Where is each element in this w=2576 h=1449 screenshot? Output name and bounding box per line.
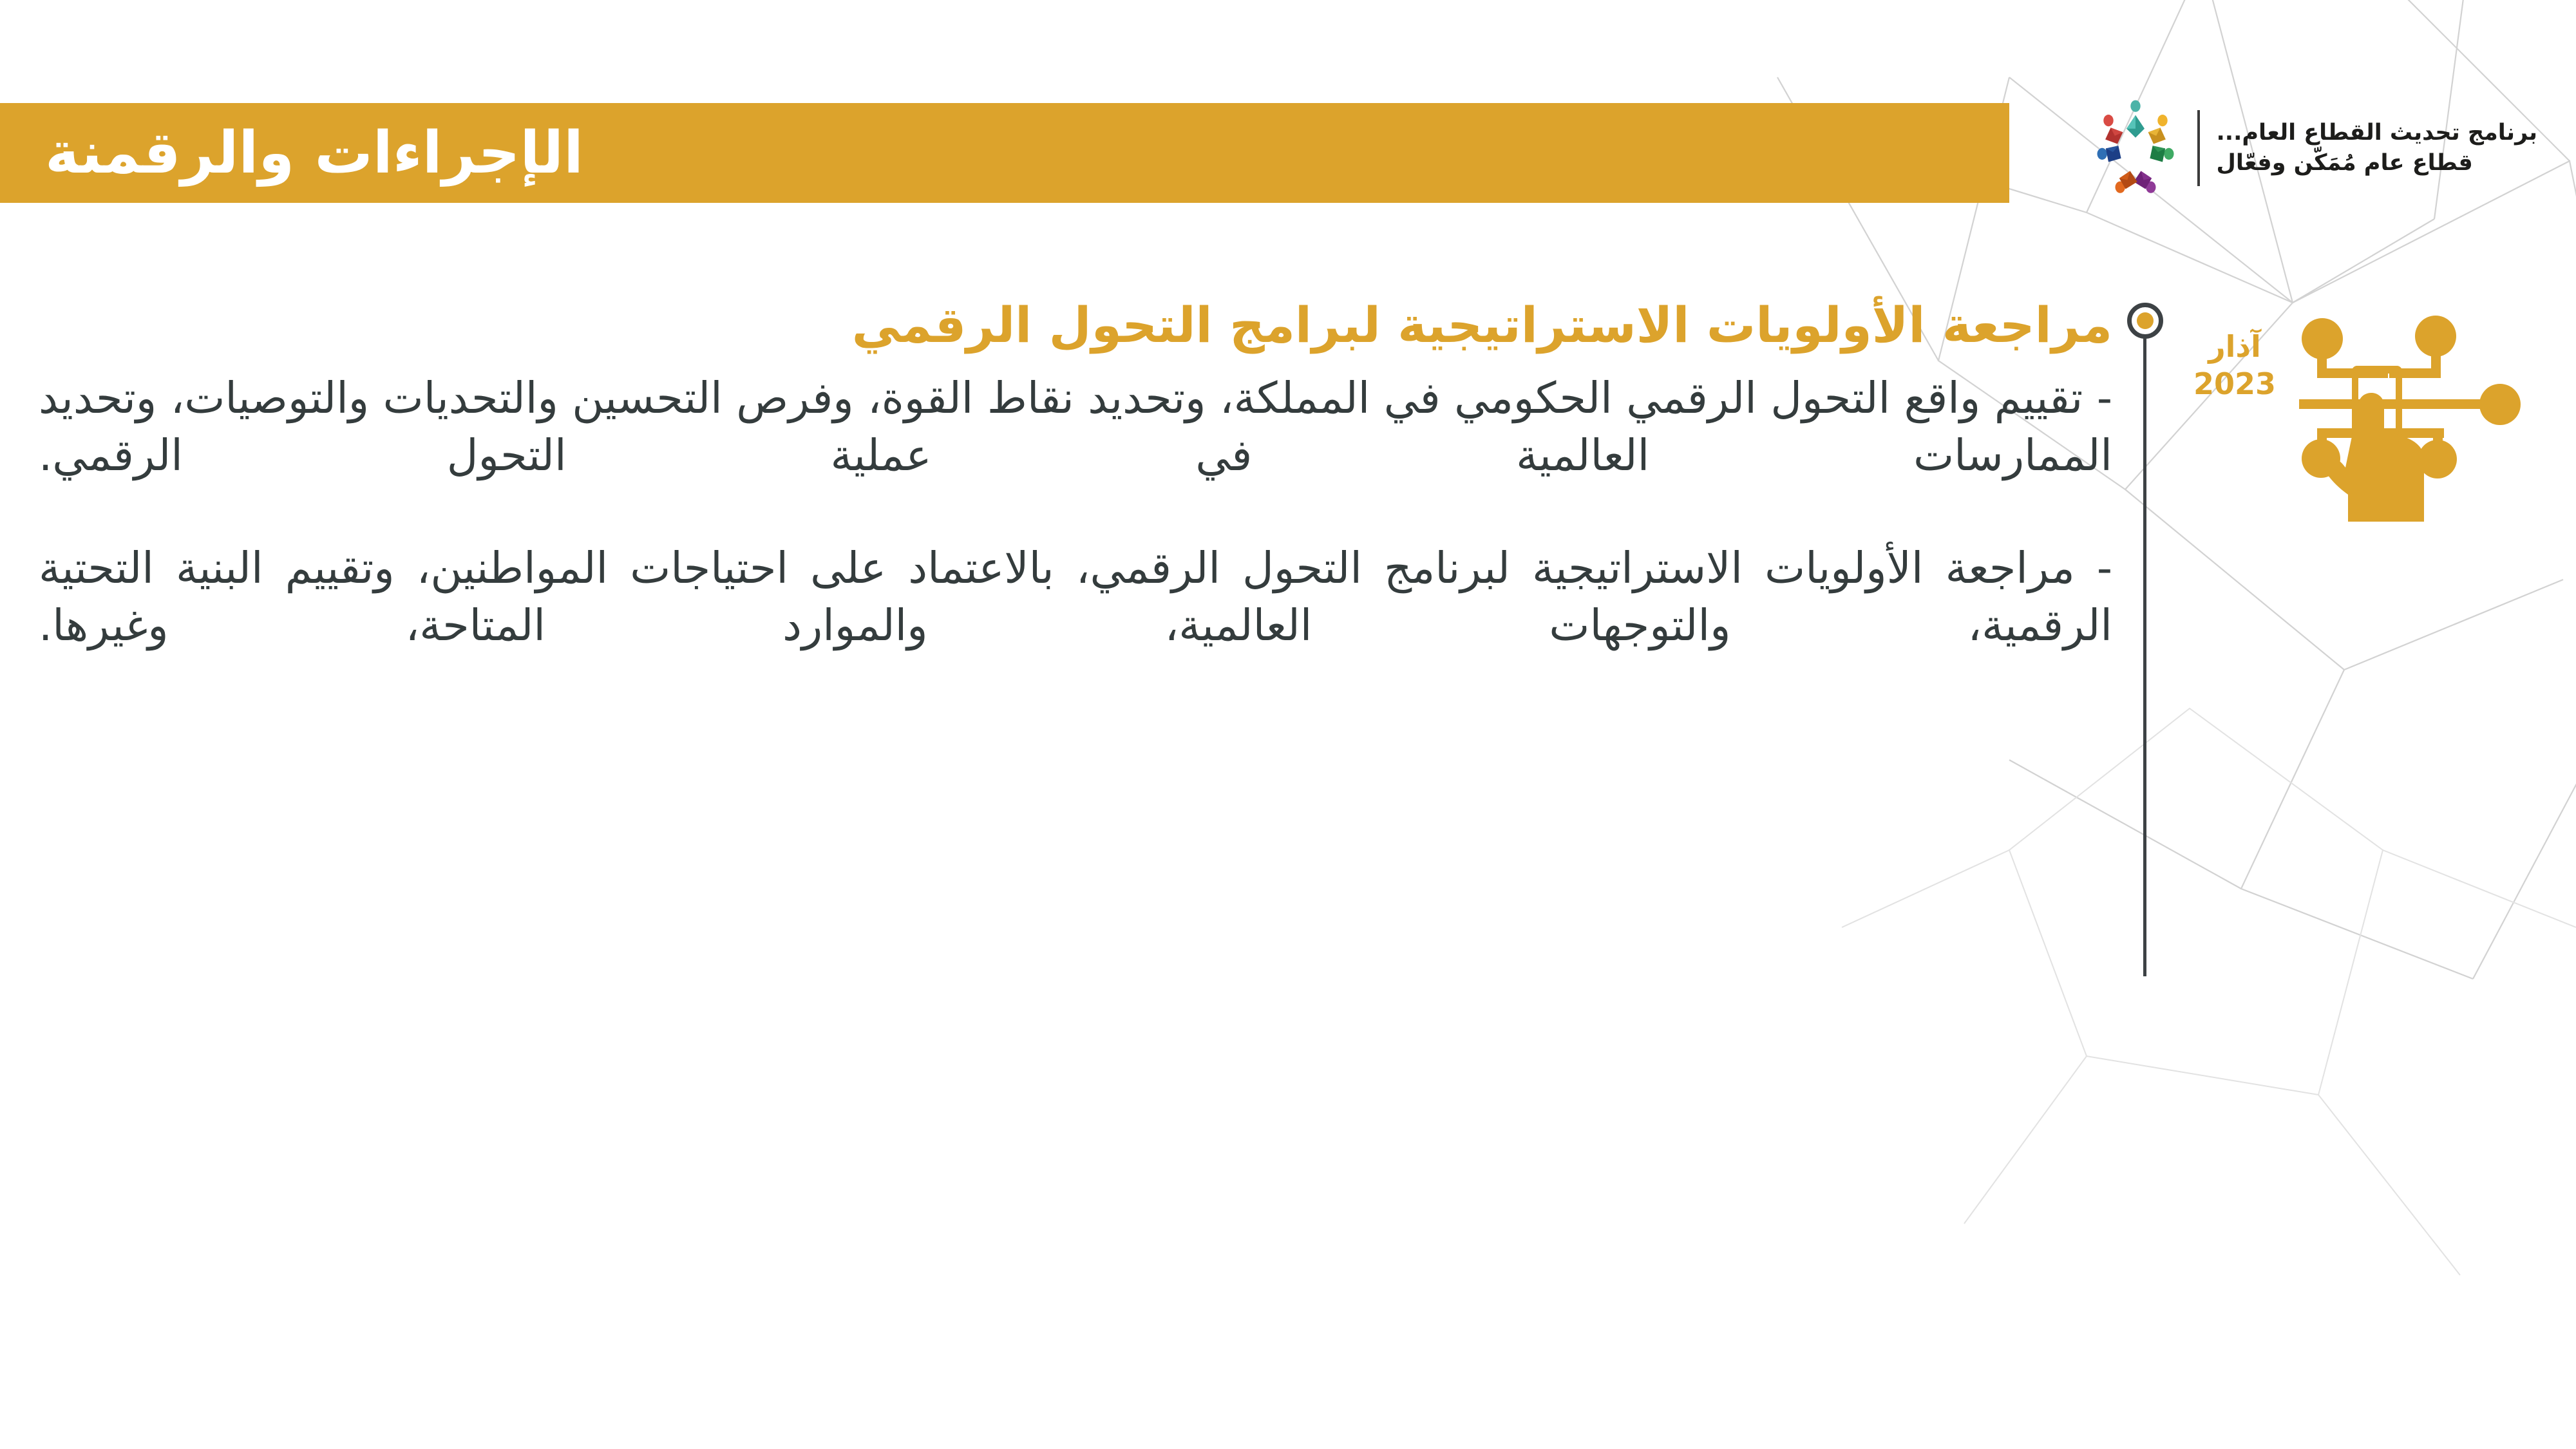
logo-wordmark: برنامج تحديث القطاع العام... قطاع عام مُ… <box>2217 118 2537 178</box>
timeline-date-year: 2023 <box>2177 366 2293 403</box>
timeline-rail <box>2125 296 2164 979</box>
timeline-date: آذار 2023 <box>2177 328 2293 402</box>
slide-title-bar: الإجراءات والرقمنة <box>0 103 2009 203</box>
page-title: الإجراءات والرقمنة <box>45 124 583 182</box>
entry-paragraph-1: - تقييم واقع التحول الرقمي الحكومي في ال… <box>39 370 2112 484</box>
logo-line-1: برنامج تحديث القطاع العام... <box>2217 118 2537 148</box>
timeline-entry: مراجعة الأولويات الاستراتيجية لبرامج الت… <box>39 296 2112 654</box>
entry-paragraph-2: - مراجعة الأولويات الاستراتيجية لبرنامج … <box>39 540 2112 654</box>
timeline-milestone-node <box>2127 303 2163 339</box>
logo-line-2: قطاع عام مُمَكّن وفعّال <box>2217 148 2473 178</box>
logo-divider <box>2197 110 2200 186</box>
slide-body: آذار 2023 مراجعة الأولويات الاستراتيجية … <box>0 296 2576 1449</box>
timeline-date-month: آذار <box>2177 328 2293 366</box>
slide-header: الإجراءات والرقمنة برنامج تحديث القطاع ا… <box>0 0 2576 238</box>
people-circle-logo-icon <box>2090 99 2181 198</box>
program-logo: برنامج تحديث القطاع العام... قطاع عام مُ… <box>2090 97 2537 200</box>
entry-title: مراجعة الأولويات الاستراتيجية لبرامج الت… <box>39 296 2112 354</box>
slide-root: الإجراءات والرقمنة برنامج تحديث القطاع ا… <box>0 0 2576 1449</box>
timeline-line <box>2143 332 2146 976</box>
digital-touch-network-icon <box>2299 309 2524 522</box>
